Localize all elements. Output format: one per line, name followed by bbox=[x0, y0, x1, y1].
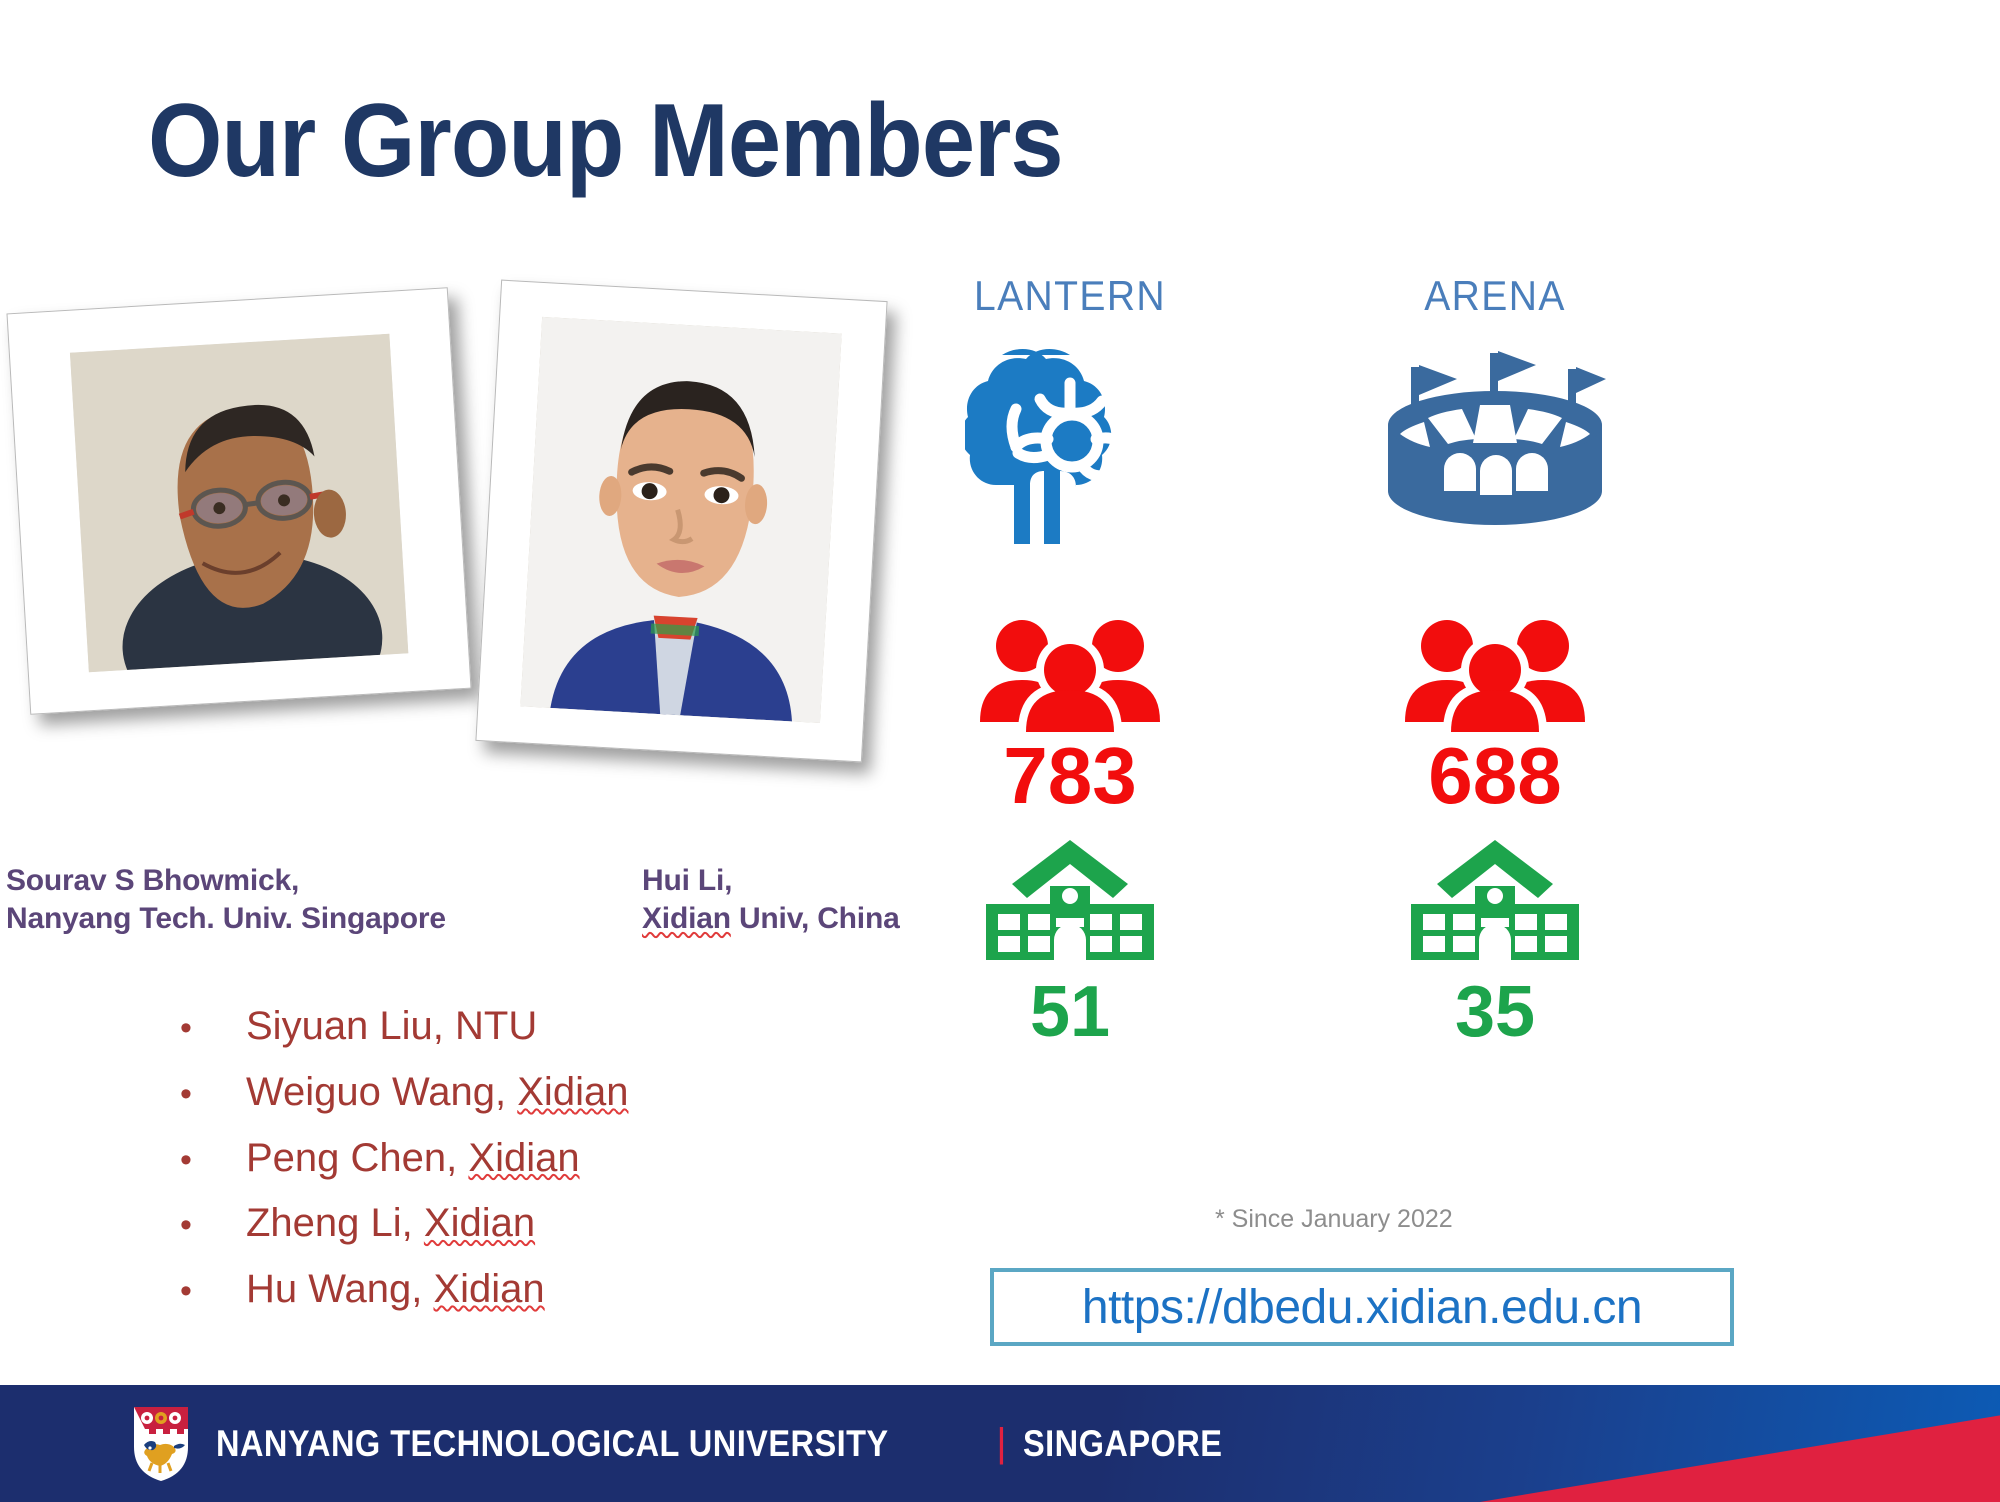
list-item-text-pre: Siyuan Liu, NTU bbox=[246, 1004, 537, 1048]
bullet-icon: • bbox=[180, 1274, 246, 1308]
caption-sourav-line1: Sourav S Bhowmick, bbox=[6, 862, 446, 900]
list-item: •Hu Wang, Xidian bbox=[180, 1263, 628, 1316]
stadium-icon bbox=[1330, 330, 1660, 560]
footer-country-name: SINGAPORE bbox=[1023, 1423, 1222, 1465]
caption-sourav: Sourav S Bhowmick, Nanyang Tech. Univ. S… bbox=[6, 862, 446, 939]
misspelled-word: Xidian bbox=[642, 902, 731, 935]
footer-separator: | bbox=[996, 1421, 1007, 1466]
footer-banner: NANYANG TECHNOLOGICAL UNIVERSITY | SINGA… bbox=[0, 1385, 2000, 1502]
list-item: •Zheng Li, Xidian bbox=[180, 1197, 628, 1250]
footer-wordmark: NANYANG TECHNOLOGICAL UNIVERSITY | SINGA… bbox=[216, 1421, 1250, 1466]
page-title: Our Group Members bbox=[148, 82, 1063, 201]
list-item-text: Weiguo Wang, Xidian bbox=[246, 1066, 628, 1119]
institution-count-arena: 35 bbox=[1330, 976, 1660, 1048]
list-item-text-pre: Hu Wang, bbox=[246, 1267, 433, 1311]
member-list: •Siyuan Liu, NTU •Weiguo Wang, Xidian •P… bbox=[180, 1000, 628, 1329]
people-group-icon bbox=[905, 602, 1235, 732]
bullet-icon: • bbox=[180, 1011, 246, 1045]
visitor-count-arena: 688 bbox=[1330, 736, 1660, 816]
footer-university-name: NANYANG TECHNOLOGICAL UNIVERSITY bbox=[216, 1423, 889, 1465]
school-building-icon bbox=[905, 834, 1235, 962]
list-item-text-pre: Weiguo Wang, bbox=[246, 1070, 517, 1114]
list-item-text-pre: Zheng Li, bbox=[246, 1201, 424, 1245]
caption-sourav-line2: Nanyang Tech. Univ. Singapore bbox=[6, 900, 446, 938]
misspelled-word: Xidian bbox=[517, 1070, 628, 1114]
bullet-icon: • bbox=[180, 1143, 246, 1177]
photo-frame-sourav bbox=[6, 287, 471, 715]
footer-red-wedge bbox=[1480, 1385, 2000, 1502]
misspelled-word: Xidian bbox=[433, 1267, 544, 1311]
list-item-text-pre: Peng Chen, bbox=[246, 1136, 468, 1180]
caption-hui-li-line2: Xidian Univ, China bbox=[642, 900, 900, 938]
caption-hui-li: Hui Li, Xidian Univ, China bbox=[642, 862, 900, 939]
caption-hui-li-line2-rest: Univ, China bbox=[731, 902, 900, 935]
list-item-text: Peng Chen, Xidian bbox=[246, 1132, 580, 1185]
bullet-icon: • bbox=[180, 1208, 246, 1242]
misspelled-word: Xidian bbox=[424, 1201, 535, 1245]
people-group-icon bbox=[1330, 602, 1660, 732]
slide-canvas: Our Group Members bbox=[0, 0, 2000, 1502]
brain-icon bbox=[905, 330, 1235, 560]
list-item: •Weiguo Wang, Xidian bbox=[180, 1066, 628, 1119]
website-url-box[interactable]: https://dbedu.xidian.edu.cn bbox=[990, 1268, 1734, 1346]
website-url-link[interactable]: https://dbedu.xidian.edu.cn bbox=[1082, 1280, 1642, 1335]
footer-logo-group: NANYANG TECHNOLOGICAL UNIVERSITY | SINGA… bbox=[132, 1385, 1250, 1502]
stat-title-lantern: LANTERN bbox=[917, 272, 1224, 320]
list-item-text: Hu Wang, Xidian bbox=[246, 1263, 545, 1316]
list-item-text: Siyuan Liu, NTU bbox=[246, 1000, 537, 1053]
stat-column-lantern: LANTERN bbox=[905, 272, 1235, 1048]
institution-count-lantern: 51 bbox=[905, 976, 1235, 1048]
stats-footnote: * Since January 2022 bbox=[1215, 1205, 1453, 1234]
visitor-count-lantern: 783 bbox=[905, 736, 1235, 816]
ntu-crest-icon bbox=[132, 1405, 190, 1483]
bullet-icon: • bbox=[180, 1077, 246, 1111]
stat-column-arena: ARENA bbox=[1330, 272, 1660, 1048]
list-item: •Peng Chen, Xidian bbox=[180, 1132, 628, 1185]
stat-title-arena: ARENA bbox=[1342, 272, 1649, 320]
list-item-text: Zheng Li, Xidian bbox=[246, 1197, 535, 1250]
portrait-sourav bbox=[70, 334, 408, 672]
school-building-icon bbox=[1330, 834, 1660, 962]
misspelled-word: Xidian bbox=[468, 1136, 579, 1180]
portrait-hui-li bbox=[520, 317, 841, 723]
list-item: •Siyuan Liu, NTU bbox=[180, 1000, 628, 1053]
photo-frame-hui-li bbox=[475, 280, 887, 763]
caption-hui-li-line1: Hui Li, bbox=[642, 862, 900, 900]
